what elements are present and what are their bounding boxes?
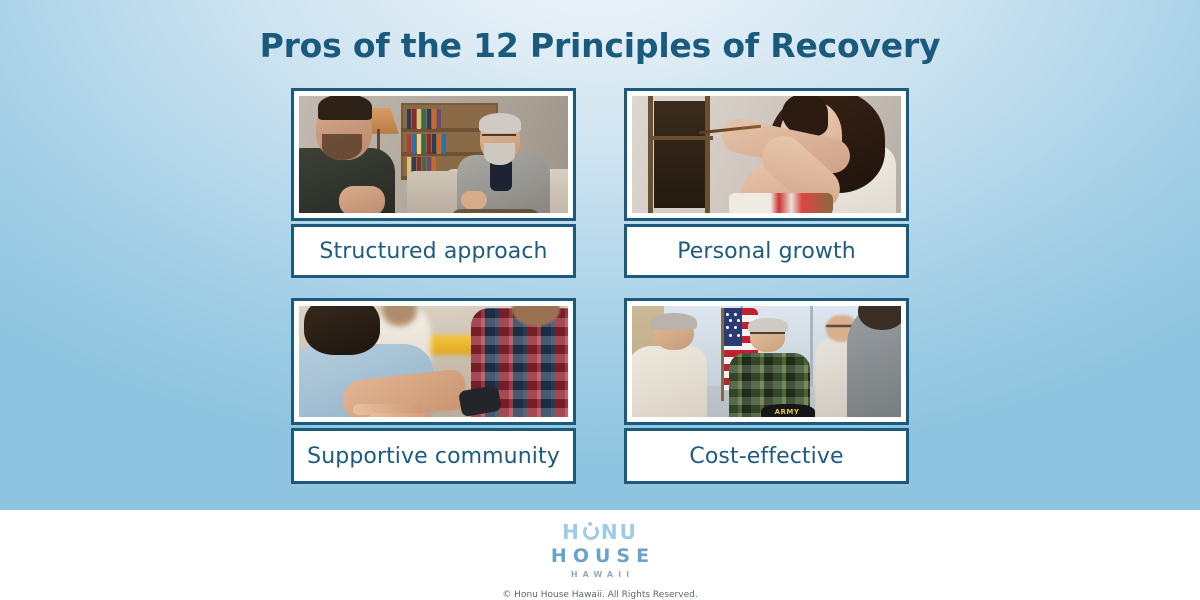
- card-label-box: Supportive community: [291, 428, 576, 484]
- card-label-text: Supportive community: [307, 444, 560, 469]
- counselor-figure: [455, 117, 552, 213]
- logo-line-honu: HNU: [545, 522, 655, 542]
- card-label-text: Structured approach: [319, 239, 547, 264]
- counseling-photo: [299, 96, 568, 213]
- logo-line-hawaii: HAWAII: [545, 571, 655, 579]
- card-label-box: Cost-effective: [624, 428, 909, 484]
- logo-letters-nu: NU: [601, 522, 638, 542]
- card-label-box: Personal growth: [624, 224, 909, 278]
- turtle-o-icon: [583, 524, 599, 540]
- card-photo-frame: [291, 298, 576, 425]
- painting-photo: [632, 96, 901, 213]
- card-label-text: Personal growth: [677, 239, 856, 264]
- card-photo-frame: [291, 88, 576, 221]
- pro-card-cost-effective[interactable]: ARMY Cost-effective: [624, 298, 909, 492]
- card-label-text: Cost-effective: [689, 444, 843, 469]
- card-photo-frame: [624, 88, 909, 221]
- pro-card-supportive-community[interactable]: Supportive community: [291, 298, 576, 492]
- infographic-page: Pros of the 12 Principles of Recovery: [0, 0, 1200, 600]
- card-label-box: Structured approach: [291, 224, 576, 278]
- honu-house-hawaii-logo[interactable]: HNU HOUSE HAWAII: [545, 522, 655, 579]
- client-figure: [299, 98, 385, 213]
- card-photo-frame: ARMY: [624, 298, 909, 425]
- pro-card-personal-growth[interactable]: Personal growth: [624, 88, 909, 282]
- army-cap-text: ARMY: [775, 408, 800, 416]
- page-footer: HNU HOUSE HAWAII © Honu House Hawaii. Al…: [0, 510, 1200, 600]
- support-photo: [299, 306, 568, 417]
- copyright-text: © Honu House Hawaii. All Rights Reserved…: [502, 590, 697, 600]
- pros-card-grid: Structured approach: [291, 88, 909, 492]
- pro-card-structured-approach[interactable]: Structured approach: [291, 88, 576, 282]
- veterans-photo: ARMY: [632, 306, 901, 417]
- page-title: Pros of the 12 Principles of Recovery: [0, 26, 1200, 65]
- logo-line-house: HOUSE: [545, 547, 655, 566]
- logo-letter-h: H: [562, 522, 581, 542]
